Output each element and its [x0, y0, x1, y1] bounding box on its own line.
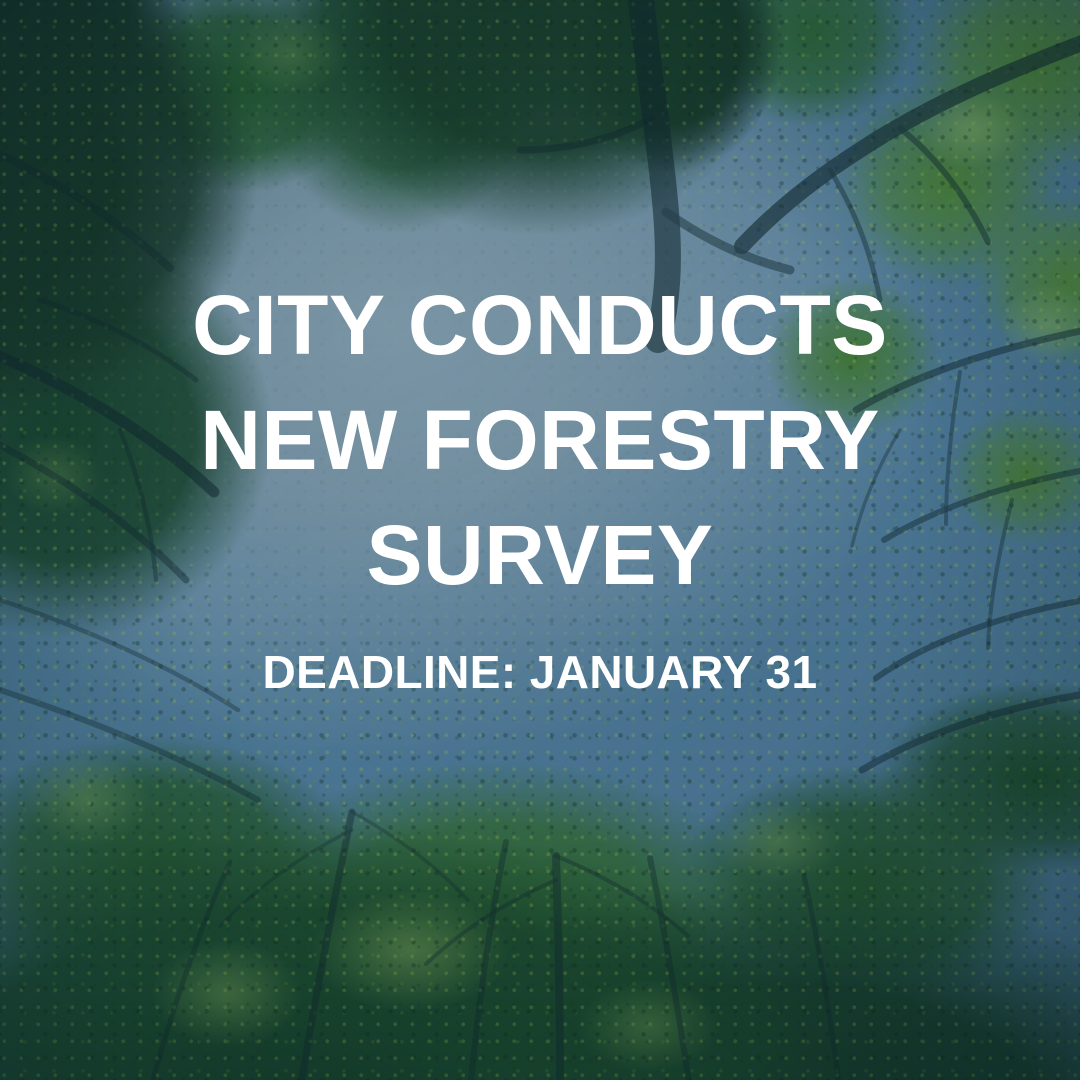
headline: CITY CONDUCTS NEW FORESTRY SURVEY: [0, 268, 1080, 613]
deadline-subhead: DEADLINE: JANUARY 31: [0, 646, 1080, 698]
headline-line-1: CITY CONDUCTS: [0, 268, 1080, 383]
poster-canvas: CITY CONDUCTS NEW FORESTRY SURVEY DEADLI…: [0, 0, 1080, 1080]
poster-content: CITY CONDUCTS NEW FORESTRY SURVEY DEADLI…: [0, 0, 1080, 1080]
headline-line-3: SURVEY: [0, 498, 1080, 613]
headline-line-2: NEW FORESTRY: [0, 383, 1080, 498]
